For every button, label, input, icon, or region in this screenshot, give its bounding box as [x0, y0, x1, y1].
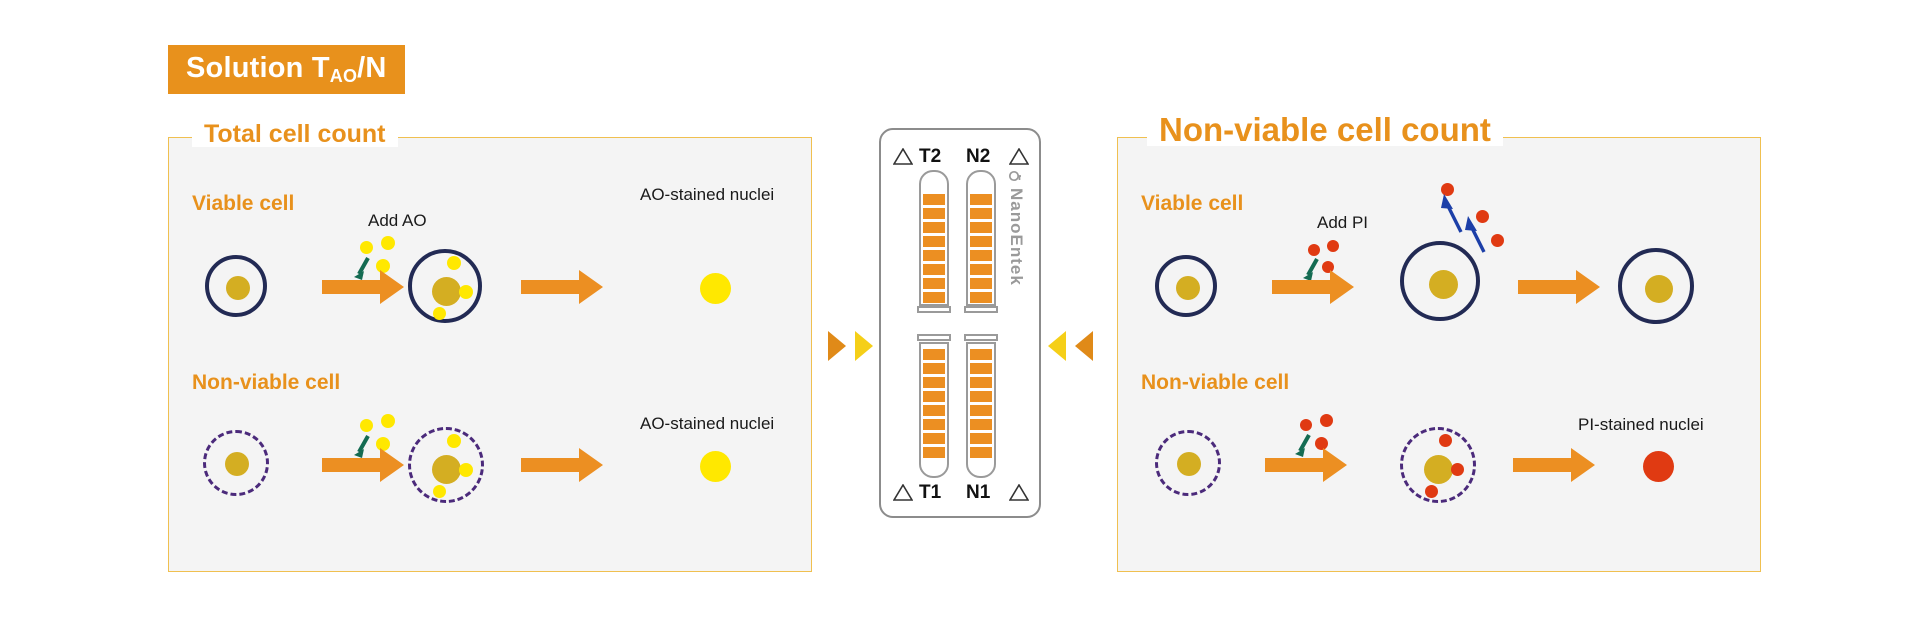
cell-membrane-nonviable-stained-left [408, 427, 484, 503]
ao-stained-dot [433, 485, 446, 498]
solution-title-prefix: Solution T [186, 52, 330, 84]
process-arrow-icon [1513, 448, 1595, 484]
right-non-viable-result-caption: PI-stained nuclei [1578, 415, 1704, 435]
pi-dye-dot [1308, 244, 1320, 256]
process-arrow-icon [1272, 270, 1354, 306]
pi-dye-dot [1327, 240, 1339, 252]
ao-stained-dot [447, 434, 461, 448]
process-arrow-icon [521, 448, 603, 484]
cartridge-label-t1: T1 [919, 482, 941, 504]
chamber-cap-n2 [964, 306, 998, 313]
cartridge-label-n2: N2 [966, 146, 990, 168]
cell-nucleus [1645, 275, 1673, 303]
cell-membrane-viable-right-1 [1155, 255, 1217, 317]
ao-stained-nuclei-result-dot [700, 273, 731, 304]
ao-stained-dot [459, 285, 473, 299]
cell-nucleus [1177, 452, 1201, 476]
cell-membrane-nonviable-left-1 [203, 430, 269, 496]
alignment-triangle-icon [893, 148, 913, 165]
chamber-t2 [919, 170, 949, 306]
cell-membrane-viable-stained-left [408, 249, 482, 323]
cell-nucleus [432, 455, 461, 484]
left-viable-cell-label: Viable cell [192, 192, 294, 216]
cell-nucleus [1424, 455, 1453, 484]
non-viable-cell-count-legend: Non-viable cell count [1147, 113, 1503, 146]
chamber-n1 [966, 342, 996, 478]
chamber-cap-t2 [917, 306, 951, 313]
flow-triangle-left-dark-icon [828, 331, 846, 361]
cartridge-label-n1: N1 [966, 482, 990, 504]
left-viable-result-caption: AO-stained nuclei [640, 185, 774, 205]
cell-nucleus [226, 276, 250, 300]
pi-repulsion-arrows-icon [1428, 190, 1514, 260]
process-arrow-icon [322, 448, 404, 484]
ao-stained-dot [433, 307, 446, 320]
total-cell-count-legend: Total cell count [192, 122, 398, 147]
solution-title-suffix: /N [357, 52, 386, 84]
alignment-triangle-icon [893, 484, 913, 501]
cell-membrane-nonviable-right-1 [1155, 430, 1221, 496]
right-viable-cell-label: Viable cell [1141, 192, 1243, 216]
ao-dye-dot [381, 414, 395, 428]
flow-triangle-left-yellow-icon [855, 331, 873, 361]
pi-stained-dot [1425, 485, 1438, 498]
brand-nanoentek-label: NanoEntek [1006, 188, 1026, 286]
cell-nucleus [432, 277, 461, 306]
cell-membrane-nonviable-pi-stained [1400, 427, 1476, 503]
chamber-n2 [966, 170, 996, 306]
process-arrow-icon [322, 270, 404, 306]
pi-dye-dot [1320, 414, 1333, 427]
solution-title-subscript: AO [330, 66, 357, 86]
cell-nucleus [225, 452, 249, 476]
ao-dye-dot [360, 241, 373, 254]
cartridge-label-t2: T2 [919, 146, 941, 168]
flow-triangle-right-yellow-icon [1048, 331, 1066, 361]
alignment-triangle-icon [1009, 148, 1029, 165]
ao-stained-nuclei-result-dot [700, 451, 731, 482]
counting-slide-cartridge[interactable]: T2 N2 Nano [879, 128, 1041, 518]
cell-nucleus [1176, 276, 1200, 300]
left-non-viable-cell-label: Non-viable cell [192, 371, 340, 395]
process-arrow-icon [1518, 270, 1600, 306]
right-non-viable-cell-label: Non-viable cell [1141, 371, 1289, 395]
left-add-ao-caption: Add AO [368, 211, 427, 231]
ao-dye-dot [381, 236, 395, 250]
pi-dye-dot [1300, 419, 1312, 431]
pi-stained-dot [1451, 463, 1464, 476]
chamber-cap-n1 [964, 334, 998, 341]
brand-mark-icon [1007, 170, 1023, 188]
chamber-t1 [919, 342, 949, 478]
process-arrow-icon [521, 270, 603, 306]
process-arrow-icon [1265, 448, 1347, 484]
right-add-pi-caption: Add PI [1317, 213, 1368, 233]
pi-stained-nuclei-result-dot [1643, 451, 1674, 482]
solution-title-badge: Solution TAO/N [168, 45, 405, 94]
pi-stained-dot [1439, 434, 1452, 447]
alignment-triangle-icon [1009, 484, 1029, 501]
ao-stained-dot [447, 256, 461, 270]
cell-nucleus [1429, 270, 1458, 299]
cell-membrane-viable-left-1 [205, 255, 267, 317]
chamber-cap-t1 [917, 334, 951, 341]
left-non-viable-result-caption: AO-stained nuclei [640, 414, 774, 434]
ao-stained-dot [459, 463, 473, 477]
flow-triangle-right-dark-icon [1075, 331, 1093, 361]
ao-dye-dot [360, 419, 373, 432]
cell-membrane-viable-unstained-result [1618, 248, 1694, 324]
